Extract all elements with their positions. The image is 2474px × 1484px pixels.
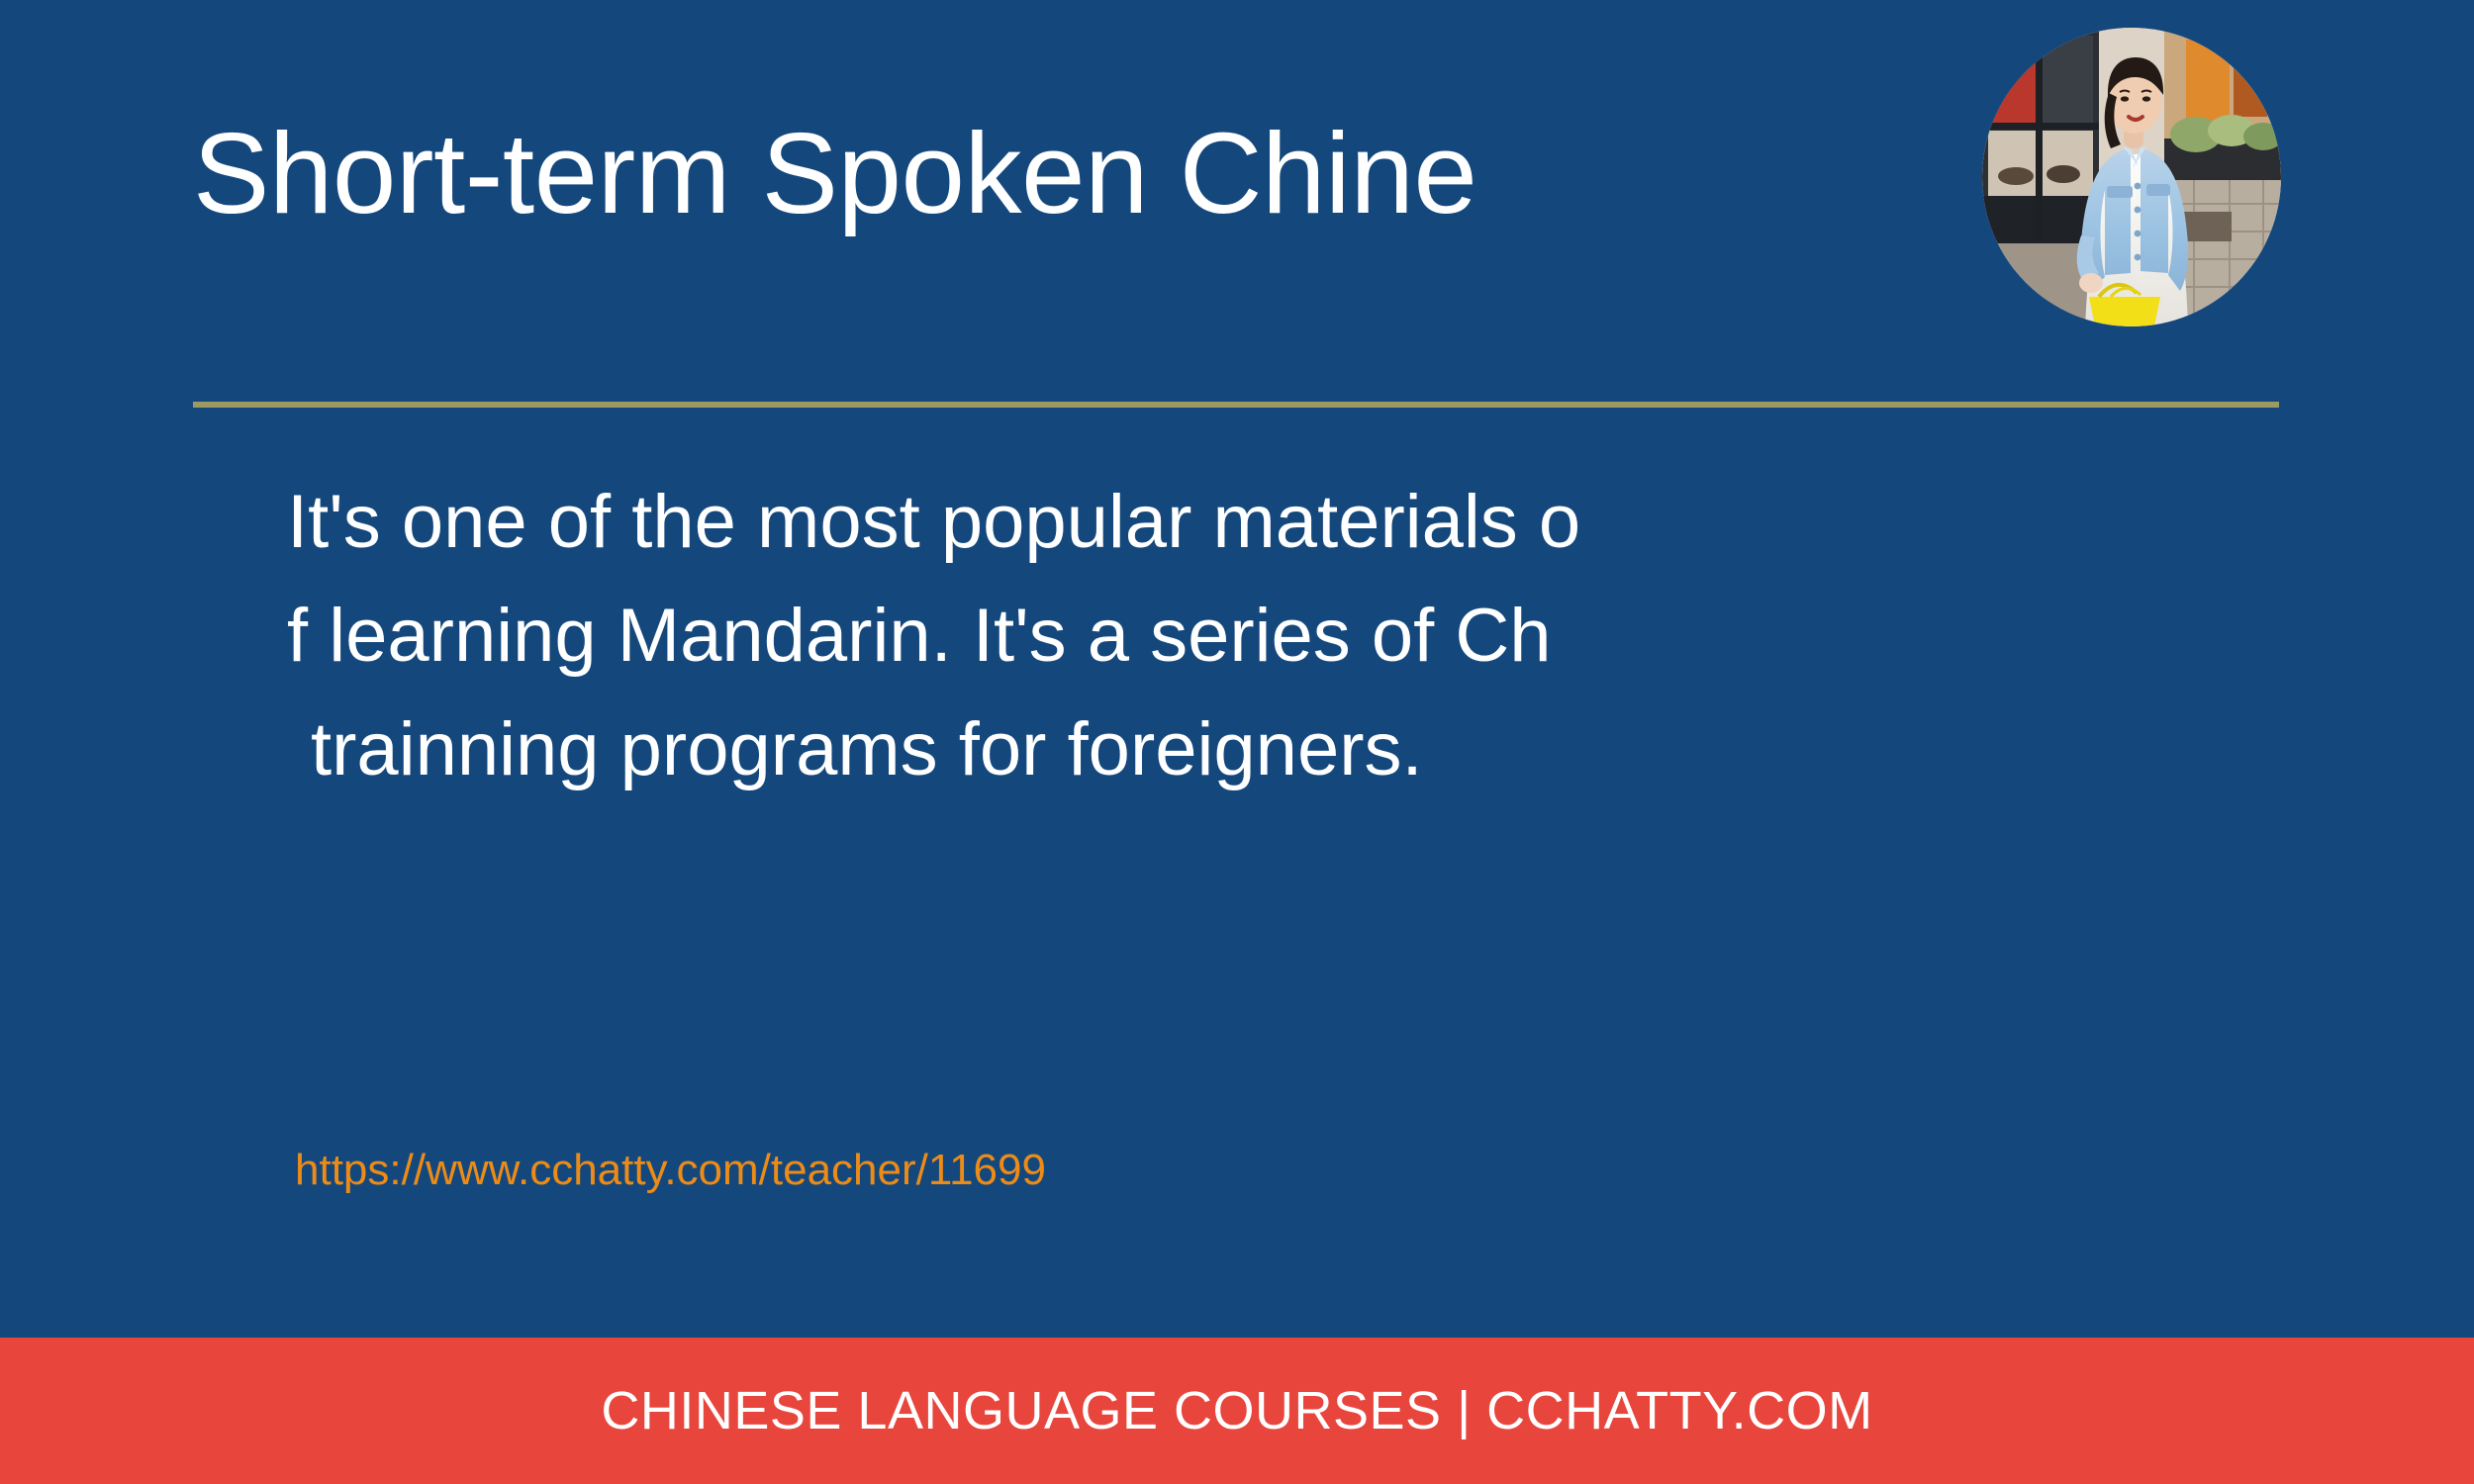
profile-link[interactable]: https://www.cchatty.com/teacher/11699 <box>295 1146 1046 1194</box>
profile-photo-icon <box>1982 28 2281 326</box>
body-line: f learning Mandarin. It's a series of Ch <box>287 579 2068 693</box>
body-line: It's one of the most popular materials o <box>287 465 2068 579</box>
footer-label: CHINESE LANGUAGE COURSES | CCHATTY.COM <box>601 1381 1872 1440</box>
body-line: trainning programs for foreigners. <box>287 693 2068 806</box>
divider <box>193 402 2279 408</box>
avatar <box>1982 28 2281 326</box>
slide-canvas: Short-term Spoken Chine <box>0 0 2474 1484</box>
body-text: It's one of the most popular materials o… <box>287 465 2068 806</box>
page-title: Short-term Spoken Chine <box>193 109 1875 237</box>
profile-link-row: https://www.cchatty.com/teacher/11699 <box>295 1143 1046 1198</box>
title-block: Short-term Spoken Chine <box>193 109 1875 237</box>
footer-bar: CHINESE LANGUAGE COURSES | CCHATTY.COM <box>0 1338 2474 1484</box>
